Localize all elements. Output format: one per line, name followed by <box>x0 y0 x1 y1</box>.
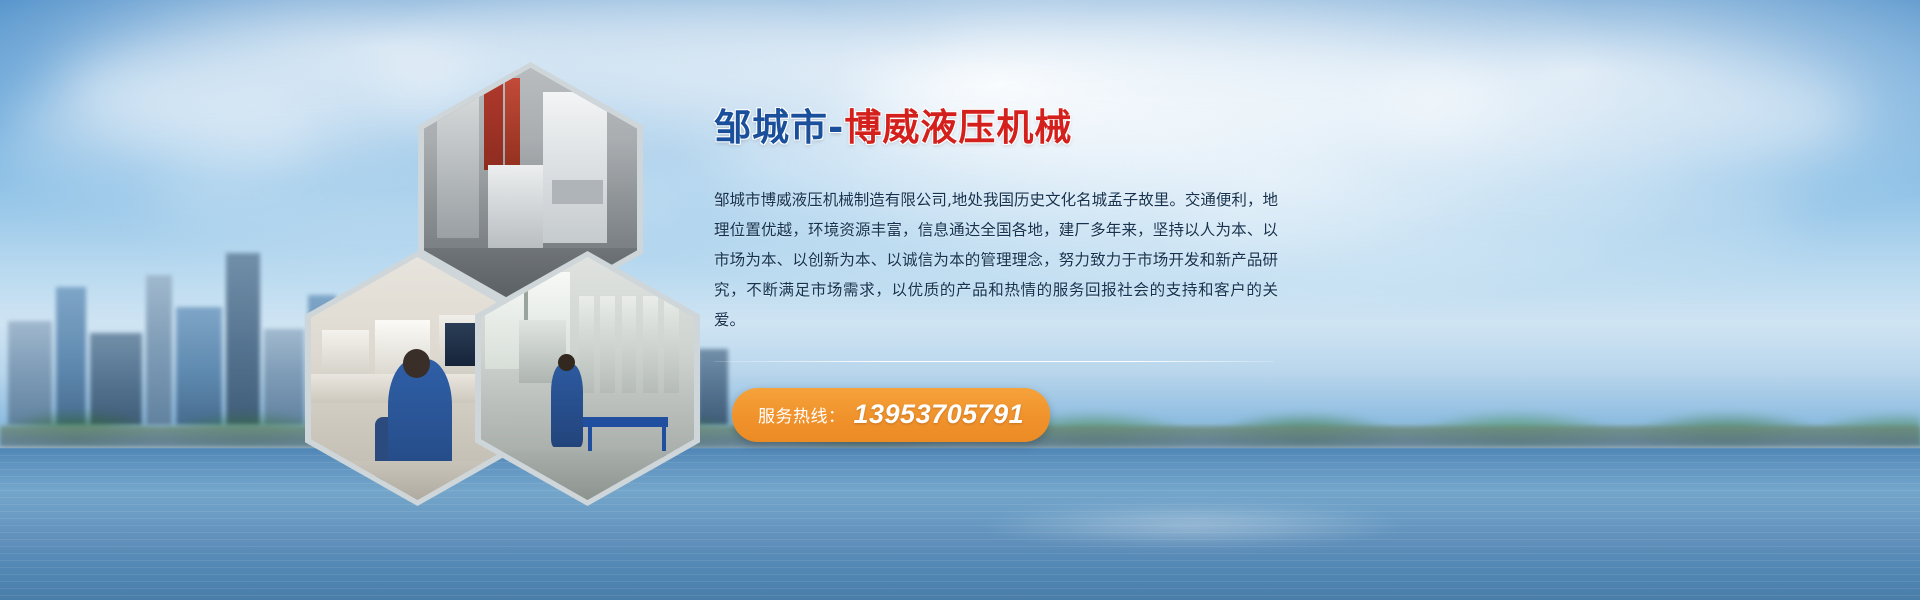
machine-column-red <box>505 78 520 170</box>
hexagon-photo-cluster <box>305 62 695 437</box>
cloud-shape <box>1380 54 1860 174</box>
tool-cart <box>583 417 668 427</box>
machine-panel <box>488 165 543 248</box>
hotline-label: 服务热线： <box>758 402 846 427</box>
machine-column-red <box>484 73 503 170</box>
banner-content: 邹城市-博威液压机械 邹城市博威液压机械制造有限公司,地处我国历史文化名城孟子故… <box>714 108 1294 442</box>
company-hero-banner: 邹城市-博威液压机械 邹城市博威液压机械制造有限公司,地处我国历史文化名城孟子故… <box>0 0 1920 600</box>
photo-clip <box>481 257 694 500</box>
machine-cabinet <box>543 92 607 243</box>
worker-head <box>558 354 575 371</box>
hotline-number: 13953705791 <box>854 399 1025 430</box>
hydraulic-tank <box>600 296 615 393</box>
hydraulic-tank <box>664 296 679 393</box>
machine-rail <box>552 180 603 204</box>
company-description: 邹城市博威液压机械制造有限公司,地处我国历史文化名城孟子故里。交通便利，地理位置… <box>714 185 1278 335</box>
water-reflection <box>883 490 1503 560</box>
assembly-bench-photo <box>481 257 694 500</box>
company-title: 邹城市-博威液压机械 <box>714 108 1294 149</box>
machine-body <box>437 87 480 238</box>
content-divider <box>714 361 1274 362</box>
company-title-city: 邹城市- <box>714 106 844 149</box>
hydraulic-tank <box>643 296 658 393</box>
company-title-brand: 博威液压机械 <box>844 106 1072 149</box>
hydraulic-tank <box>622 296 637 393</box>
assembly-worker <box>551 364 583 447</box>
service-hotline-button[interactable]: 服务热线： 13953705791 <box>732 388 1050 442</box>
